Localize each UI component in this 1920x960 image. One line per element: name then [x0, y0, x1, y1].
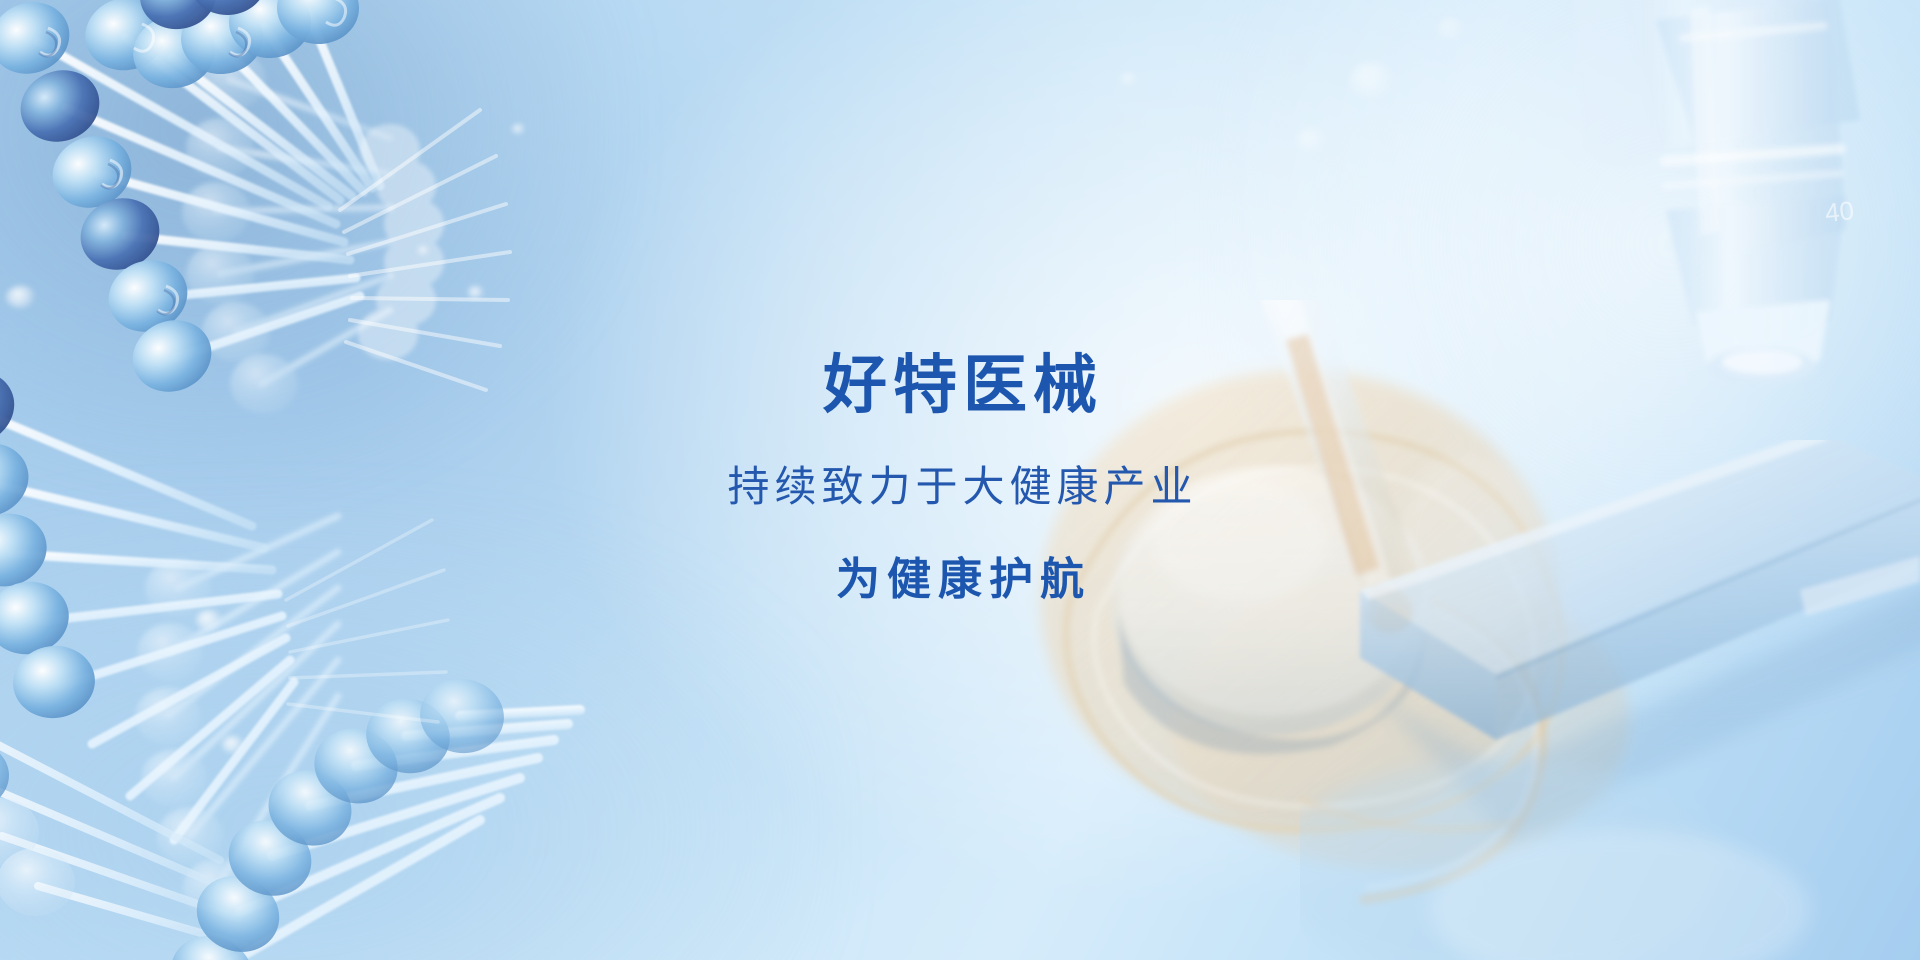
hero-banner: 40	[0, 0, 1920, 960]
hero-tagline: 为健康护航	[0, 557, 1920, 603]
page-title: 好特医械	[0, 352, 1920, 419]
hero-text-block: 好特医械 持续致力于大健康产业 为健康护航	[0, 352, 1920, 603]
hero-subtitle: 持续致力于大健康产业	[0, 465, 1920, 509]
